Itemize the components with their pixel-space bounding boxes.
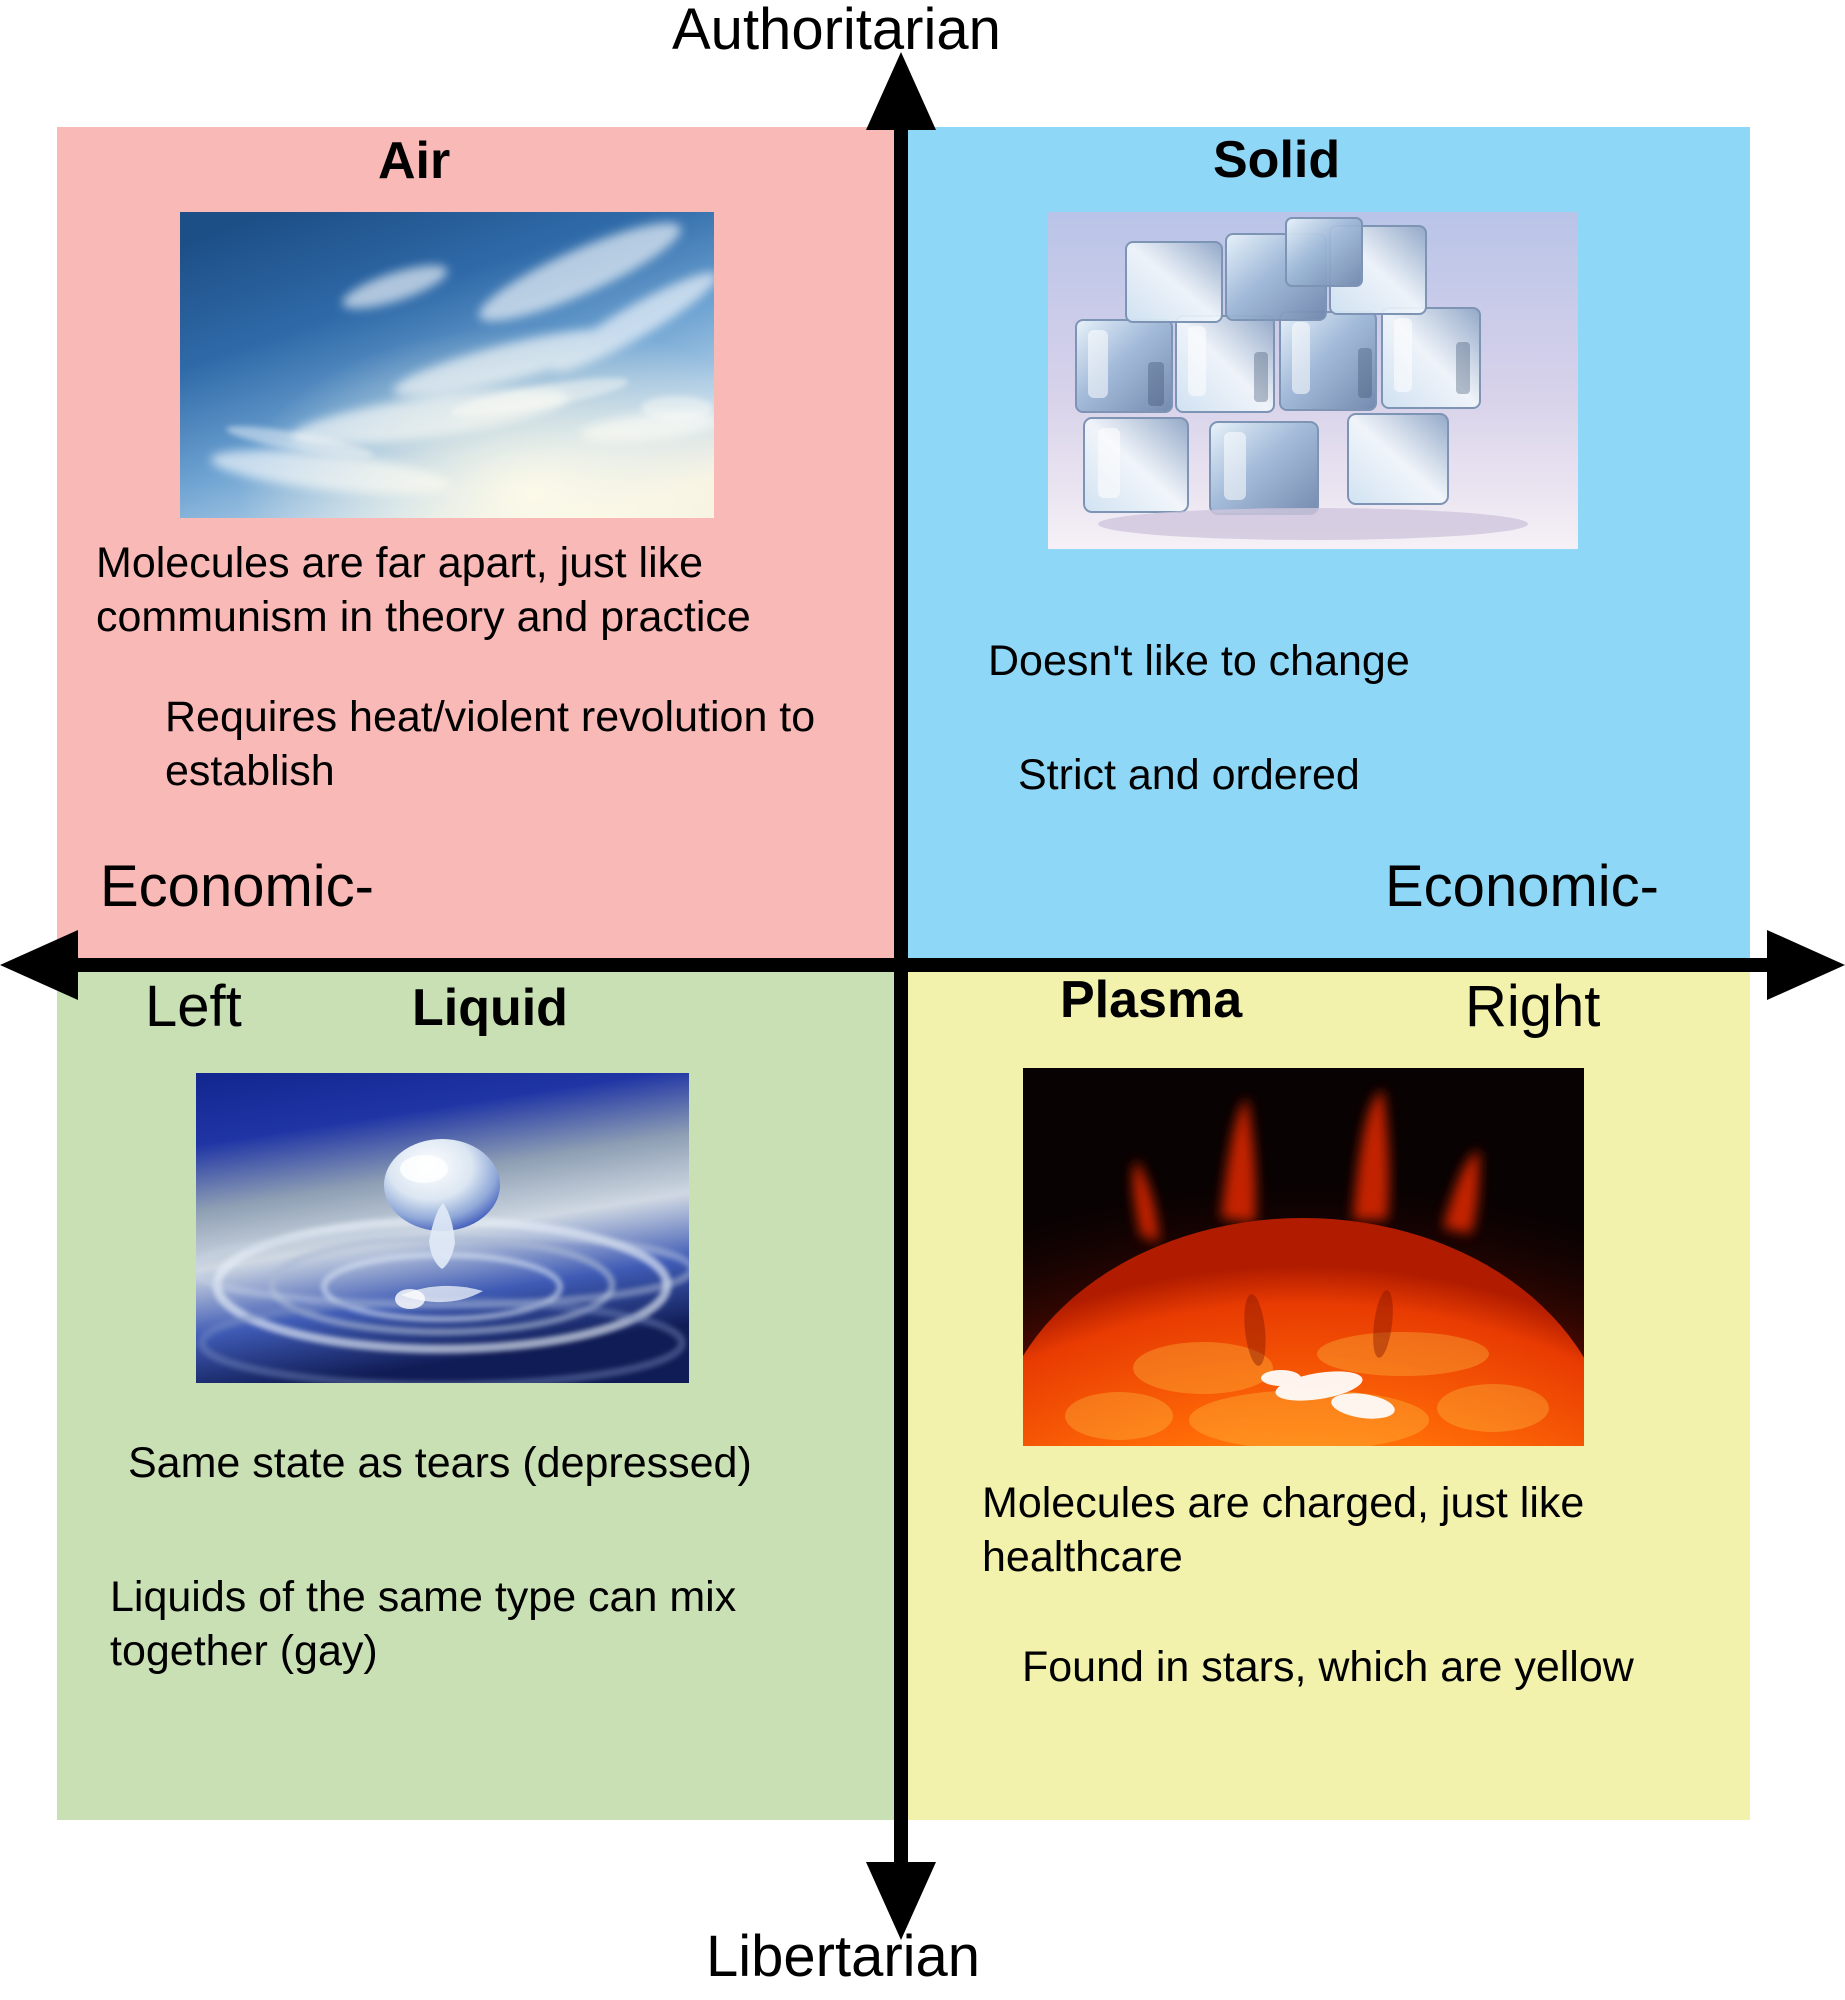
arrow-right-icon xyxy=(1767,930,1845,1000)
solid-ice-cubes-image xyxy=(1048,212,1578,549)
vertical-axis-line xyxy=(894,78,908,1916)
axis-label-economic-left-line2: Left xyxy=(145,975,242,1039)
quadrant-title-liquid: Liquid xyxy=(412,980,568,1036)
air-description-1: Molecules are far apart, just like commu… xyxy=(96,536,826,644)
liquid-description-2: Liquids of the same type can mix togethe… xyxy=(110,1570,810,1678)
axis-label-libertarian: Libertarian xyxy=(706,1925,980,1989)
axis-label-authoritarian: Authoritarian xyxy=(672,0,1001,62)
plasma-sun-image xyxy=(1023,1068,1584,1446)
plasma-description-1: Molecules are charged, just like healthc… xyxy=(982,1476,1662,1584)
axis-label-economic-left-line1: Economic- xyxy=(100,855,374,919)
axis-label-economic-right-line2: Right xyxy=(1465,975,1600,1039)
horizontal-axis-line xyxy=(38,958,1812,972)
quadrant-title-air: Air xyxy=(378,133,450,189)
solid-description-2: Strict and ordered xyxy=(1018,748,1578,802)
air-sky-image xyxy=(180,212,714,518)
plasma-description-2: Found in stars, which are yellow xyxy=(1022,1640,1722,1694)
quadrant-title-solid: Solid xyxy=(1213,132,1340,188)
political-compass-chart: Air Solid Liquid Plasma Molecules are fa… xyxy=(0,0,1845,2000)
axis-label-economic-right-line1: Economic- xyxy=(1385,855,1659,919)
liquid-description-1: Same state as tears (depressed) xyxy=(128,1436,828,1490)
arrow-up-icon xyxy=(866,52,936,130)
air-description-2: Requires heat/violent revolution to esta… xyxy=(165,690,855,798)
quadrant-title-plasma: Plasma xyxy=(1060,972,1242,1028)
liquid-water-droplet-image xyxy=(196,1073,689,1383)
arrow-left-icon xyxy=(0,930,78,1000)
solid-description-1: Doesn't like to change xyxy=(988,634,1548,688)
